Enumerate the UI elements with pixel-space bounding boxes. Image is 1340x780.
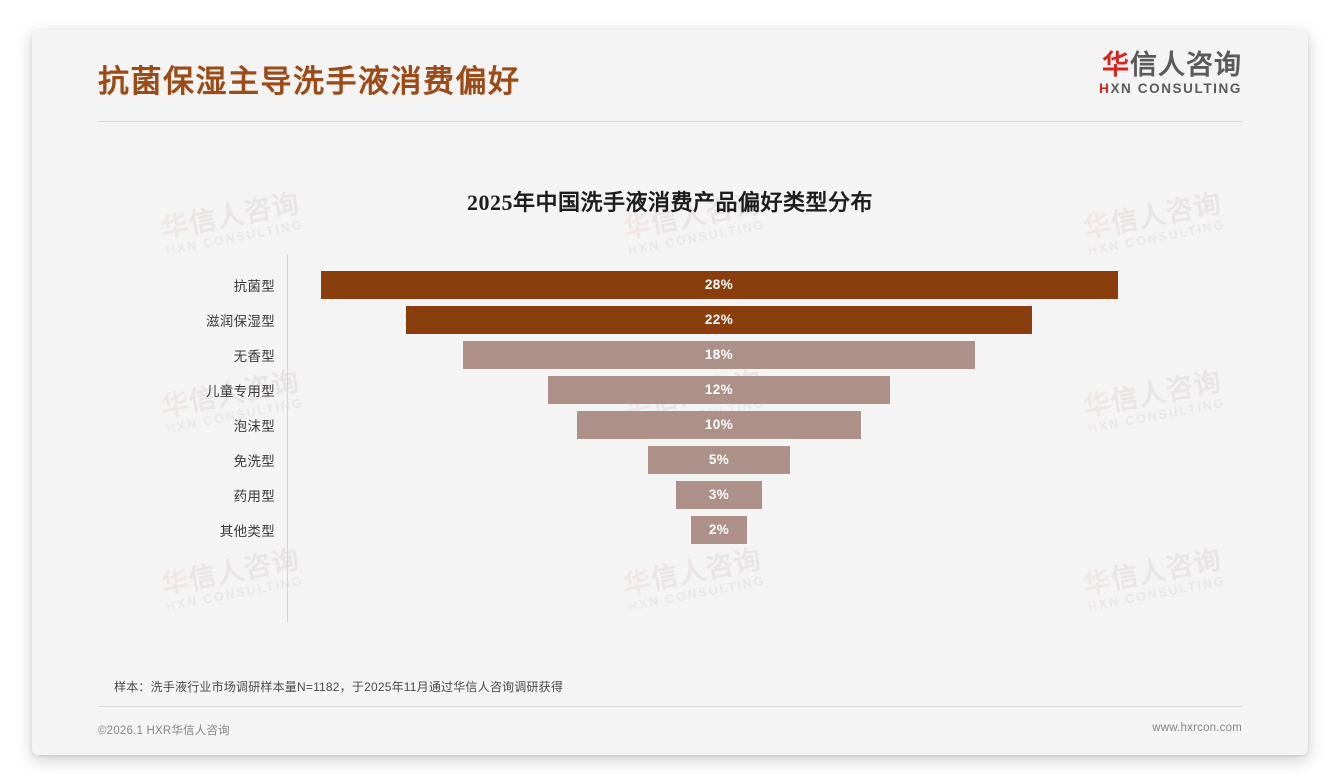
page-title: 抗菌保湿主导洗手液消费偏好	[98, 56, 521, 101]
category-label: 无香型	[32, 345, 275, 365]
brand-logo-en: HXN CONSULTING	[1099, 81, 1242, 96]
copyright-text: ©2026.1 HXR华信人咨询	[98, 722, 230, 738]
funnel-row: 儿童专用型12%	[32, 372, 1308, 407]
funnel-bar[interactable]: 12%	[548, 376, 890, 404]
funnel-bar[interactable]: 22%	[406, 306, 1032, 334]
category-label: 儿童专用型	[32, 380, 275, 400]
funnel-bar[interactable]: 10%	[577, 411, 862, 439]
bar-track: 18%	[288, 337, 1308, 372]
bar-value-label: 12%	[705, 382, 733, 397]
funnel-row: 泡沫型10%	[32, 407, 1308, 442]
funnel-chart: 抗菌型28%滋润保湿型22%无香型18%儿童专用型12%泡沫型10%免洗型5%药…	[32, 255, 1308, 635]
bar-track: 12%	[288, 372, 1308, 407]
bar-value-label: 3%	[709, 487, 729, 502]
bar-value-label: 2%	[709, 522, 729, 537]
bar-track: 2%	[288, 512, 1308, 547]
chart-title: 2025年中国洗手液消费产品偏好类型分布	[32, 185, 1308, 217]
brand-logo-cn-accent: 华	[1102, 50, 1130, 80]
funnel-bar[interactable]: 3%	[676, 481, 761, 509]
funnel-row: 其他类型2%	[32, 512, 1308, 547]
bar-track: 28%	[288, 267, 1308, 302]
brand-logo-cn-rest: 信人咨询	[1130, 50, 1242, 80]
bar-track: 5%	[288, 442, 1308, 477]
funnel-bar[interactable]: 18%	[463, 341, 975, 369]
site-url: www.hxrcon.com	[1152, 722, 1242, 734]
brand-logo-cn: 华信人咨询	[1099, 50, 1242, 80]
header-divider	[98, 121, 1242, 122]
sample-note: 样本：洗手液行业市场调研样本量N=1182，于2025年11月通过华信人咨询调研…	[114, 678, 563, 695]
bar-value-label: 5%	[709, 452, 729, 467]
funnel-row: 药用型3%	[32, 477, 1308, 512]
bar-track: 3%	[288, 477, 1308, 512]
category-label: 泡沫型	[32, 415, 275, 435]
funnel-row: 滋润保湿型22%	[32, 302, 1308, 337]
funnel-bar[interactable]: 5%	[648, 446, 790, 474]
funnel-row: 免洗型5%	[32, 442, 1308, 477]
brand-logo-en-rest: XN CONSULTING	[1110, 81, 1242, 96]
bar-track: 10%	[288, 407, 1308, 442]
footer-divider	[98, 706, 1242, 707]
category-label: 其他类型	[32, 520, 275, 540]
category-label: 药用型	[32, 485, 275, 505]
bar-value-label: 18%	[705, 347, 733, 362]
bar-value-label: 28%	[705, 277, 733, 292]
funnel-rows: 抗菌型28%滋润保湿型22%无香型18%儿童专用型12%泡沫型10%免洗型5%药…	[32, 267, 1308, 547]
funnel-bar[interactable]: 28%	[321, 271, 1118, 299]
category-label: 免洗型	[32, 450, 275, 470]
funnel-row: 无香型18%	[32, 337, 1308, 372]
slide-header: 抗菌保湿主导洗手液消费偏好 华信人咨询 HXN CONSULTING	[32, 30, 1308, 122]
brand-logo: 华信人咨询 HXN CONSULTING	[1099, 50, 1242, 96]
slide-card: 华信人咨询 HXN CONSULTING 华信人咨询 HXN CONSULTIN…	[32, 30, 1308, 755]
category-label: 滋润保湿型	[32, 310, 275, 330]
slide-footer: ©2026.1 HXR华信人咨询 www.hxrcon.com	[32, 719, 1308, 743]
chart-block: 2025年中国洗手液消费产品偏好类型分布 抗菌型28%滋润保湿型22%无香型18…	[32, 130, 1308, 670]
bar-value-label: 10%	[705, 417, 733, 432]
brand-logo-en-accent: H	[1099, 81, 1110, 96]
category-label: 抗菌型	[32, 275, 275, 295]
bar-track: 22%	[288, 302, 1308, 337]
funnel-bar[interactable]: 2%	[691, 516, 748, 544]
bar-value-label: 22%	[705, 312, 733, 327]
funnel-row: 抗菌型28%	[32, 267, 1308, 302]
